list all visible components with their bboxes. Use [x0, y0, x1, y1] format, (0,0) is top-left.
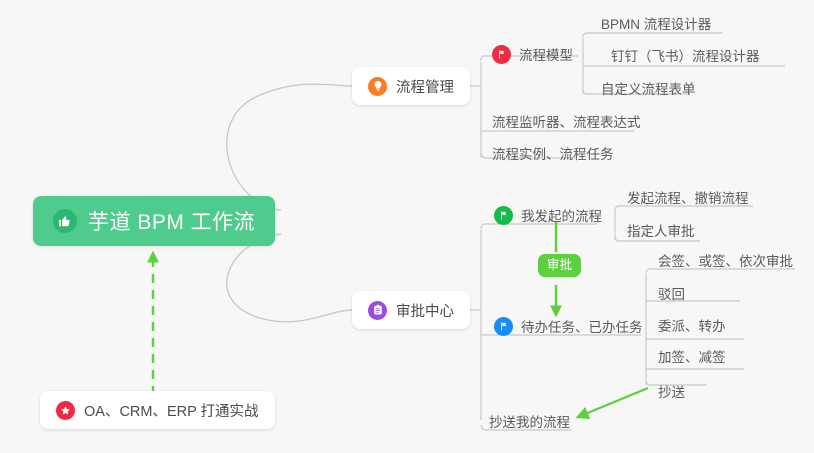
bottom-note-label: OA、CRM、ERP 打通实战: [84, 400, 259, 421]
mindmap-canvas: 芋道 BPM 工作流 流程管理 流程模型 BPMN 流程设计器 钉钉（飞书）流程…: [0, 0, 814, 453]
sub-branch-todo-done-tasks[interactable]: 待办任务、已办任务: [494, 316, 643, 336]
leaf-cc-to-me-flows[interactable]: 抄送我的流程: [489, 411, 570, 431]
flag-icon: [492, 45, 511, 64]
flag-icon: [494, 317, 513, 336]
bottom-note-node[interactable]: OA、CRM、ERP 打通实战: [40, 391, 275, 429]
leaf-start-cancel-flow[interactable]: 发起流程、撤销流程: [627, 187, 749, 207]
wire-pm-spine: [476, 62, 481, 158]
wire-model-corner-top: [583, 33, 589, 37]
approve-badge: 审批: [538, 254, 581, 277]
leaf-process-instance-task[interactable]: 流程实例、流程任务: [492, 143, 614, 163]
branch-label-process-management: 流程管理: [396, 76, 454, 97]
leaf-process-listener-expression[interactable]: 流程监听器、流程表达式: [492, 111, 641, 131]
leaf-assignee-approval[interactable]: 指定人审批: [627, 220, 695, 240]
root-node[interactable]: 芋道 BPM 工作流: [33, 196, 275, 246]
wire-root-to-approval-center: [227, 234, 352, 322]
wire-root-to-process-management: [227, 84, 352, 210]
leaf-dingtalk-feishu-designer[interactable]: 钉钉（飞书）流程设计器: [611, 45, 760, 65]
sub-branch-process-model[interactable]: 流程模型: [492, 44, 573, 64]
root-label: 芋道 BPM 工作流: [88, 206, 255, 236]
leaf-reject[interactable]: 驳回: [658, 283, 685, 303]
leaf-add-remove-sign[interactable]: 加签、减签: [658, 346, 726, 366]
wire-todo-corner-top: [646, 269, 652, 273]
sub-branch-label-todo-done-tasks: 待办任务、已办任务: [521, 316, 643, 336]
leaf-delegate-transfer[interactable]: 委派、转办: [658, 315, 726, 335]
leaf-custom-process-form[interactable]: 自定义流程表单: [601, 78, 696, 98]
arrow-cc-to-my-flows: [578, 388, 648, 417]
leaf-bpmn-designer[interactable]: BPMN 流程设计器: [601, 13, 711, 33]
wire-pm-spine-corner-top: [481, 56, 487, 61]
sub-branch-my-initiated-flows[interactable]: 我发起的流程: [494, 205, 602, 225]
star-icon: [56, 401, 75, 420]
wire-ac-corner-top: [481, 224, 488, 229]
wire-mine-corner-top: [615, 206, 621, 210]
branch-label-approval-center: 审批中心: [396, 300, 454, 321]
lightbulb-icon: [368, 77, 387, 96]
thumbs-up-icon: [53, 209, 77, 233]
leaf-countersign-or-sign-sequential[interactable]: 会签、或签、依次审批: [658, 250, 793, 270]
clipboard-icon: [368, 301, 387, 320]
branch-node-approval-center[interactable]: 审批中心: [352, 291, 470, 329]
leaf-carbon-copy[interactable]: 抄送: [658, 381, 685, 401]
flag-icon: [494, 206, 513, 225]
sub-branch-label-process-model: 流程模型: [519, 44, 573, 64]
branch-node-process-management[interactable]: 流程管理: [352, 67, 470, 105]
sub-branch-label-my-initiated-flows: 我发起的流程: [521, 205, 602, 225]
